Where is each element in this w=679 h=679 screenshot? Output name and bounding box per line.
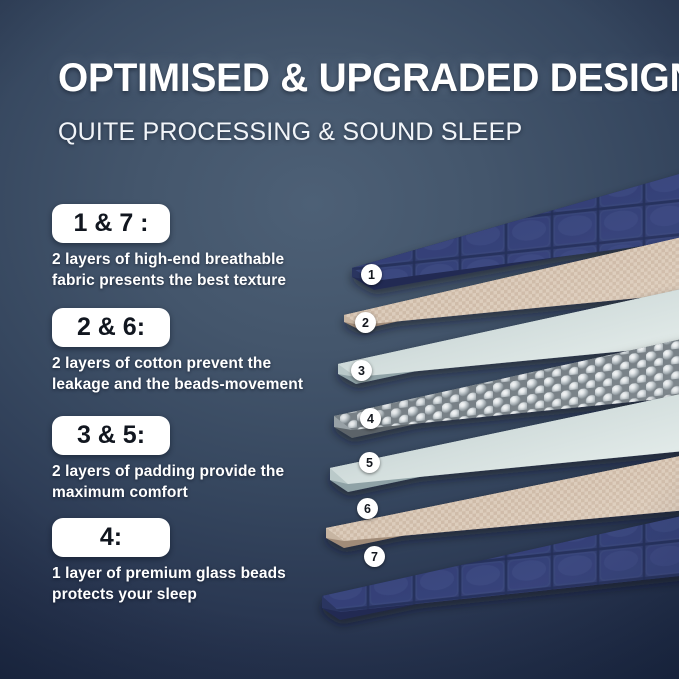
info-label-3: 3 & 5: xyxy=(52,416,170,455)
info-block-4: 4: 1 layer of premium glass beads protec… xyxy=(52,518,312,605)
info-block-1: 1 & 7 : 2 layers of high-end breathable … xyxy=(52,204,312,291)
info-block-3: 3 & 5: 2 layers of padding provide the m… xyxy=(52,416,312,503)
layer-badge-5: 5 xyxy=(359,452,380,473)
layer-badge-1: 1 xyxy=(361,264,382,285)
layer-badge-3: 3 xyxy=(351,360,372,381)
info-description-2: 2 layers of cotton prevent the leakage a… xyxy=(52,354,312,395)
info-label-4: 4: xyxy=(52,518,170,557)
layer-badge-4: 4 xyxy=(360,408,381,429)
page-subtitle: QUITE PROCESSING & SOUND SLEEP xyxy=(58,118,522,147)
layer-badge-7: 7 xyxy=(364,546,385,567)
info-description-4: 1 layer of premium glass beads protects … xyxy=(52,564,312,605)
info-description-1: 2 layers of high-end breathable fabric p… xyxy=(52,250,312,291)
info-block-2: 2 & 6: 2 layers of cotton prevent the le… xyxy=(52,308,312,395)
infographic-stage: 1 2 3 4 5 6 7 OPTIMISED & UPGRADED DESIG… xyxy=(0,0,679,679)
info-label-1: 1 & 7 : xyxy=(52,204,170,243)
layer-badge-6: 6 xyxy=(357,498,378,519)
page-title: OPTIMISED & UPGRADED DESIGN xyxy=(58,56,679,101)
info-label-2: 2 & 6: xyxy=(52,308,170,347)
layer-badge-2: 2 xyxy=(355,312,376,333)
info-description-3: 2 layers of padding provide the maximum … xyxy=(52,462,312,503)
